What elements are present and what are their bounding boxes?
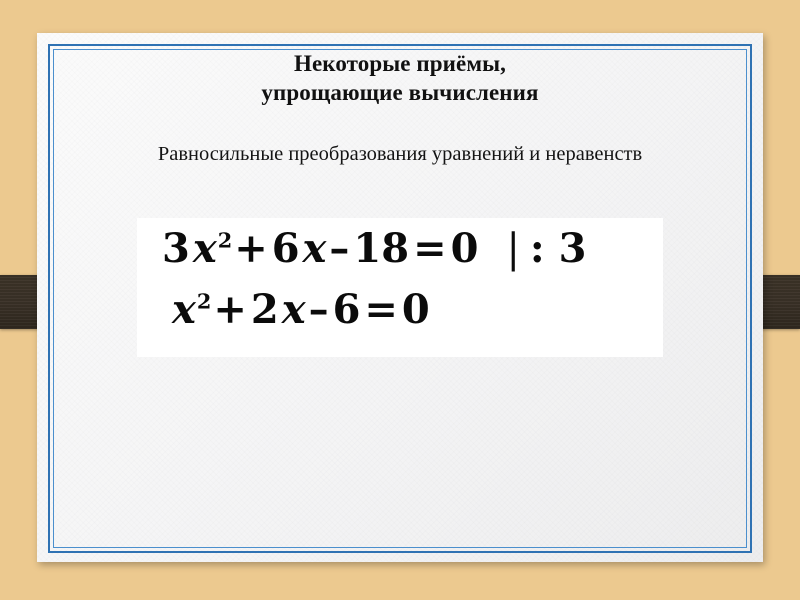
equation-equals-sign: =: [411, 225, 449, 272]
handwritten-equation-image: 3x2+6x–18=0|: 3 x2+2x–6=0: [137, 218, 663, 357]
equation-right-hand-side: 0: [449, 225, 481, 272]
equation-plus-operator: +: [232, 225, 270, 272]
equation-plus-operator: +: [211, 286, 249, 333]
equation-coefficient-2: 6: [270, 225, 302, 272]
desk-background: Некоторые приёмы, упрощающие вычисления …: [0, 0, 800, 600]
equation-line-2: x2+2x–6=0: [171, 286, 432, 333]
equation-exponent: 2: [218, 228, 232, 253]
equation-variable: x: [171, 286, 197, 333]
equation-variable-2: x: [302, 225, 328, 272]
page-subtitle: Равносильные преобразования уравнений и …: [37, 143, 763, 166]
equation-line-1: 3x2+6x–18=0|: 3: [160, 225, 588, 272]
page-title-line-2: упрощающие вычисления: [37, 78, 763, 107]
page-title: Некоторые приёмы, упрощающие вычисления: [37, 49, 763, 108]
presentation-slide: Некоторые приёмы, упрощающие вычисления …: [37, 33, 763, 562]
equation-coefficient-2: 2: [249, 286, 281, 333]
equation-right-hand-side: 0: [400, 286, 432, 333]
equation-equals-sign: =: [362, 286, 400, 333]
equation-minus-operator: –: [307, 286, 331, 333]
equation-constant: 18: [351, 225, 411, 272]
equation-constant: 6: [331, 286, 363, 333]
page-title-line-1: Некоторые приёмы,: [37, 49, 763, 78]
equation-minus-operator: –: [327, 225, 351, 272]
equation-variable-2: x: [281, 286, 307, 333]
equation-pipe-separator: |: [480, 226, 527, 272]
equation-divide-annotation: : 3: [528, 225, 589, 272]
slide-content: Некоторые приёмы, упрощающие вычисления …: [37, 33, 763, 562]
equation-exponent: 2: [197, 289, 211, 314]
equation-coefficient: 3: [160, 225, 192, 272]
equation-variable: x: [192, 225, 218, 272]
